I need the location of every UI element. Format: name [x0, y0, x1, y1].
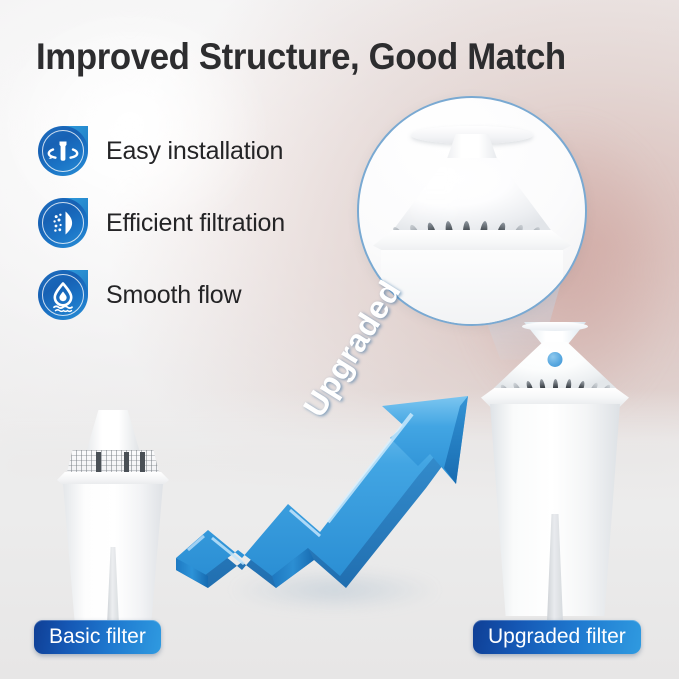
filtration-icon	[38, 198, 88, 248]
feature-item-smooth-flow: Smooth flow	[38, 270, 285, 320]
page-title: Improved Structure, Good Match	[36, 36, 619, 78]
feature-label: Efficient filtration	[106, 209, 285, 238]
bottle-rotate-icon	[38, 126, 88, 176]
feature-badge	[38, 198, 88, 248]
water-drop-icon	[38, 270, 88, 320]
upgraded-filter-label-text: Upgraded filter	[488, 625, 626, 649]
feature-item-easy-installation: Easy installation	[38, 126, 285, 176]
product-basic-filter	[52, 410, 174, 625]
feature-label: Smooth flow	[106, 281, 241, 310]
upgraded-filter-label-pill: Upgraded filter	[473, 620, 641, 654]
basic-filter-label-pill: Basic filter	[34, 620, 161, 654]
product-image-canvas: Improved Structure, Good Match Easy inst…	[0, 0, 679, 679]
feature-badge	[38, 270, 88, 320]
product-upgraded-filter	[480, 322, 630, 622]
feature-badge	[38, 126, 88, 176]
feature-list: Easy installation	[38, 126, 285, 342]
basic-filter-label-text: Basic filter	[49, 625, 146, 649]
feature-item-efficient-filtration: Efficient filtration	[38, 198, 285, 248]
blue-port-dot	[548, 352, 563, 367]
feature-label: Easy installation	[106, 137, 283, 166]
